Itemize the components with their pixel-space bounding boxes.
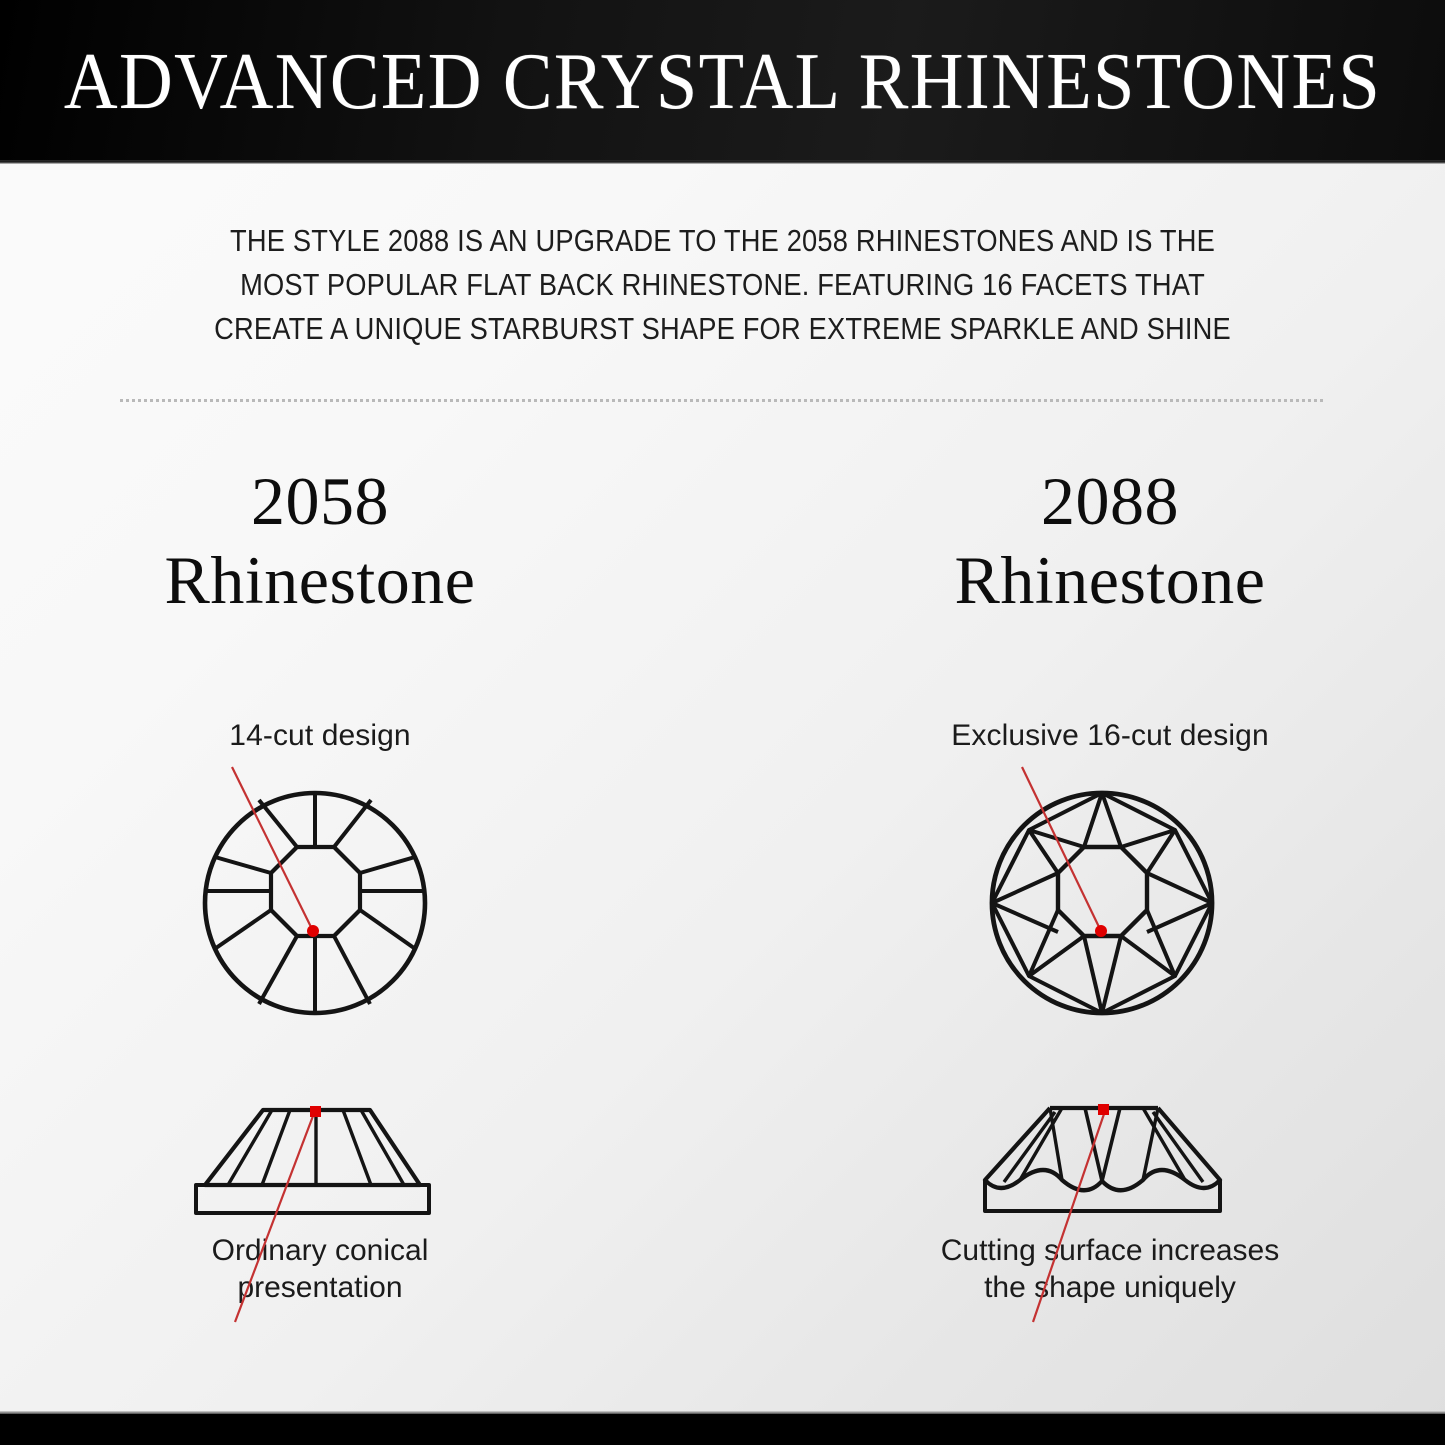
infographic-page: ADVANCED CRYSTAL RHINESTONES THE STYLE 2…: [0, 0, 1445, 1445]
caption-2088-line-1: Cutting surface increases: [790, 1232, 1430, 1269]
caption-2058-line-2: presentation: [0, 1269, 640, 1306]
star-outer-chords-2088: [992, 793, 1212, 1013]
caption-2088-line-2: the shape uniquely: [790, 1269, 1430, 1306]
footer-band: [0, 1414, 1445, 1445]
base-slab-2058: [196, 1185, 429, 1213]
facet-lines-2088-side: [1004, 1108, 1203, 1182]
leader-line-2058-top: [232, 767, 311, 927]
leader-dot-2088-side: [1098, 1104, 1109, 1115]
facet-lines-2058: [205, 793, 425, 1013]
leader-dot-2088-top: [1095, 925, 1107, 937]
leader-dot-2058-side: [310, 1106, 321, 1117]
intro-line-2: MOST POPULAR FLAT BACK RHINESTONE. FEATU…: [184, 263, 1262, 307]
header-bottom-rule: [0, 160, 1445, 164]
cut-label-2058: 14-cut design: [0, 718, 640, 754]
style-word-2088: Rhinestone: [790, 541, 1430, 620]
cut-label-2088: Exclusive 16-cut design: [790, 718, 1430, 754]
girdle-outline-2058: [205, 793, 425, 1013]
caption-2058: Ordinary conical presentation: [0, 1232, 640, 1306]
caption-2088: Cutting surface increases the shape uniq…: [790, 1232, 1430, 1306]
diagram-2058-side-view: [196, 1110, 429, 1213]
style-number-2058: 2058: [0, 462, 640, 541]
leader-line-2088-top: [1022, 767, 1099, 927]
cone-body-2058: [205, 1110, 420, 1185]
diagram-2088-top-view: [992, 793, 1212, 1013]
caption-2058-line-1: Ordinary conical: [0, 1232, 640, 1269]
style-title-2058: 2058 Rhinestone: [0, 462, 640, 620]
column-2088: 2088 Rhinestone: [790, 462, 1430, 620]
center-v-facet-2088: [1085, 1108, 1120, 1181]
intro-line-1: THE STYLE 2088 IS AN UPGRADE TO THE 2058…: [184, 219, 1262, 263]
diagram-2088-side-view: [985, 1108, 1220, 1211]
scalloped-silhouette-2088: [985, 1108, 1220, 1190]
star-spikes-2088: [992, 793, 1212, 1013]
style-number-2088: 2088: [790, 462, 1430, 541]
style-title-2088: 2088 Rhinestone: [790, 462, 1430, 620]
page-title: ADVANCED CRYSTAL RHINESTONES: [51, 41, 1395, 123]
diagram-2058-top-view: [205, 793, 425, 1013]
facet-lines-2058-side: [228, 1110, 404, 1185]
column-2058: 2058 Rhinestone: [0, 462, 640, 620]
girdle-outline-2088: [992, 793, 1212, 1013]
table-octagon-2088: [1058, 847, 1147, 936]
intro-line-3: CREATE A UNIQUE STARBURST SHAPE FOR EXTR…: [184, 307, 1262, 351]
base-slab-2088: [985, 1180, 1220, 1211]
table-octagon-2058: [271, 847, 360, 936]
dotted-divider: [120, 399, 1325, 402]
intro-paragraph: THE STYLE 2088 IS AN UPGRADE TO THE 2058…: [184, 219, 1262, 351]
leader-dot-2058-top: [307, 925, 319, 937]
style-word-2058: Rhinestone: [0, 541, 640, 620]
